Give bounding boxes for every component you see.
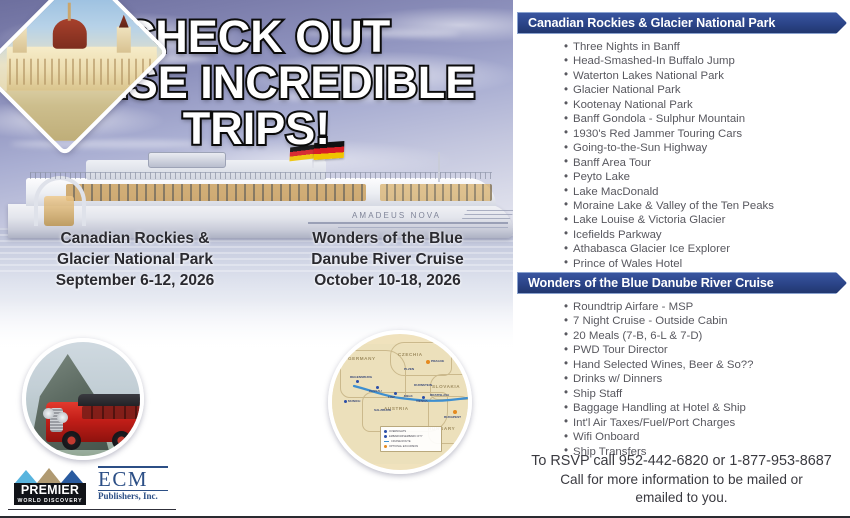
premier-world-discovery-logo: PREMIER WORLD DISCOVERY xyxy=(14,468,86,505)
map-city-melk: MELK xyxy=(404,394,413,398)
legend-swatch xyxy=(384,435,387,438)
legend-swatch xyxy=(384,441,389,442)
list-item: 20 Meals (7-B, 6-L & 7-D) xyxy=(513,329,850,343)
red-bus-roof xyxy=(78,394,144,406)
section-canadian-rockies: Canadian Rockies & Glacier National Park… xyxy=(513,12,850,271)
list-item: Glacier National Park xyxy=(513,83,850,97)
peak-icon xyxy=(61,470,83,483)
rsvp-phone-line[interactable]: To RSVP call 952-442-6820 or 1-877-953-8… xyxy=(513,452,850,471)
map-city-bratislava: BRATISLAVA xyxy=(430,393,449,397)
hero-photo-panel: AMADEUS NOVA CHECK OUT THESE INCREDIBLE … xyxy=(0,0,513,518)
map-city-dot xyxy=(356,380,359,383)
peak-icon xyxy=(15,470,37,483)
rsvp-info-line-1: Call for more information to be mailed o… xyxy=(513,471,850,489)
list-item: Int'l Air Taxes/Fuel/Port Charges xyxy=(513,416,850,430)
list-item: Roundtrip Airfare - MSP xyxy=(513,300,850,314)
parliament-dome xyxy=(53,19,87,49)
logo-divider xyxy=(8,509,176,511)
list-item: Three Nights in Banff xyxy=(513,40,850,54)
ship-window-row xyxy=(66,184,366,201)
trip-title-line-2: Danube River Cruise xyxy=(270,249,505,270)
ship-window-row xyxy=(380,184,492,201)
ecm-publishers-logo: ECM Publishers, Inc. xyxy=(98,466,176,502)
map-label-germany: GERMANY xyxy=(348,356,376,361)
map-city-dot xyxy=(426,360,430,364)
list-item: Peyto Lake xyxy=(513,170,850,184)
ecm-logo-word: ECM xyxy=(98,468,176,490)
ship-mast xyxy=(438,152,440,182)
list-item: Lake MacDonald xyxy=(513,185,850,199)
map-legend: OVERNIGHTS EMBARK/DISEMBARK CITY CRUISE … xyxy=(380,426,442,452)
red-jammer-bus-photo xyxy=(22,338,144,460)
parliament-tower xyxy=(117,27,131,53)
map-city-vienna: VIENNA xyxy=(416,399,428,403)
trip-dates: October 10-18, 2026 xyxy=(270,270,505,291)
list-item: Banff Area Tour xyxy=(513,156,850,170)
map-label-czechia: CZECHIA xyxy=(398,352,423,357)
headlight-icon xyxy=(57,412,68,423)
list-item: Icefields Parkway xyxy=(513,228,850,242)
legend-label: OPTIONAL EXCURSION xyxy=(389,444,418,449)
parliament-spire xyxy=(68,3,71,21)
trip-caption-rockies: Canadian Rockies & Glacier National Park… xyxy=(10,228,260,291)
section-header-label: Canadian Rockies & Glacier National Park xyxy=(518,16,775,30)
trip-title-line-2: Glacier National Park xyxy=(10,249,260,270)
section-header-danube: Wonders of the Blue Danube River Cruise xyxy=(517,272,847,294)
itinerary-panel: Canadian Rockies & Glacier National Park… xyxy=(513,0,850,518)
premier-logo-tagline: WORLD DISCOVERY xyxy=(14,497,86,505)
advertisement-flyer: AMADEUS NOVA CHECK OUT THESE INCREDIBLE … xyxy=(0,0,850,518)
list-item: Wifi Onboard xyxy=(513,430,850,444)
premier-logo-word: PREMIER xyxy=(14,483,86,497)
list-item: Head-Smashed-In Buffalo Jump xyxy=(513,54,850,68)
trip-title-line-1: Wonders of the Blue xyxy=(270,228,505,249)
trip-captions: Canadian Rockies & Glacier National Park… xyxy=(0,228,513,298)
legend-swatch xyxy=(384,445,387,448)
trip-dates: September 6-12, 2026 xyxy=(10,270,260,291)
trip-caption-danube: Wonders of the Blue Danube River Cruise … xyxy=(270,228,505,291)
map-city-salzburg: SALZBURG xyxy=(374,408,391,412)
ship-railing xyxy=(30,172,492,179)
map-city-prague: PRAGUE xyxy=(431,359,444,363)
list-item: Banff Gondola - Sulphur Mountain xyxy=(513,112,850,126)
list-item: Ship Staff xyxy=(513,387,850,401)
bus-wheel xyxy=(62,431,81,450)
list-item: Moraine Lake & Valley of the Ten Peaks xyxy=(513,199,850,213)
list-item: Athabasca Glacier Ice Explorer xyxy=(513,242,850,256)
ship-wheelhouse xyxy=(148,152,226,168)
list-item: Prince of Wales Hotel xyxy=(513,257,850,271)
section-danube-cruise: Wonders of the Blue Danube River Cruise … xyxy=(513,272,850,459)
peak-icon xyxy=(37,468,61,483)
red-bus-windows xyxy=(82,406,144,419)
ship-chevron-decal xyxy=(459,210,513,224)
bus-wheel xyxy=(112,431,131,450)
rsvp-block: To RSVP call 952-442-6820 or 1-877-953-8… xyxy=(513,452,850,507)
map-city-dot xyxy=(344,400,347,403)
logo-bar: PREMIER WORLD DISCOVERY ECM Publishers, … xyxy=(14,466,184,506)
parliament-columns xyxy=(9,59,155,85)
legend-row: OPTIONAL EXCURSION xyxy=(384,444,438,449)
list-item: 1930's Red Jammer Touring Cars xyxy=(513,127,850,141)
list-item: PWD Tour Director xyxy=(513,343,850,357)
section-header-label: Wonders of the Blue Danube River Cruise xyxy=(518,276,774,290)
list-item: Kootenay National Park xyxy=(513,98,850,112)
list-item: Waterton Lakes National Park xyxy=(513,69,850,83)
legend-swatch xyxy=(384,430,387,433)
map-city-passau: PASSAU xyxy=(369,389,382,393)
feature-list-danube: Roundtrip Airfare - MSP 7 Night Cruise -… xyxy=(513,300,850,459)
list-item: 7 Night Cruise - Outside Cabin xyxy=(513,314,850,328)
danube-route-map: GERMANY CZECHIA SLOVAKIA AUSTRIA HUNGARY… xyxy=(328,330,472,474)
ecm-logo-tagline: Publishers, Inc. xyxy=(98,491,176,502)
list-item: Going-to-the-Sun Highway xyxy=(513,141,850,155)
list-item: Baggage Handling at Hotel & Ship xyxy=(513,401,850,415)
map-city-munich: MUNICH xyxy=(348,399,360,403)
map-city-dot xyxy=(453,410,457,414)
mountain-peaks-icon xyxy=(14,468,86,483)
list-item: Drinks w/ Dinners xyxy=(513,372,850,386)
rsvp-info-line-2: emailed to you. xyxy=(513,489,850,507)
ship-name-label: AMADEUS NOVA xyxy=(352,211,441,220)
map-city-durnstein: DURNSTEIN xyxy=(414,383,432,387)
trip-title-line-1: Canadian Rockies & xyxy=(10,228,260,249)
list-item: Lake Louise & Victoria Glacier xyxy=(513,213,850,227)
map-city-linz: LINZ xyxy=(388,395,395,399)
ship-bow-lounge xyxy=(44,196,74,226)
section-header-rockies: Canadian Rockies & Glacier National Park xyxy=(517,12,847,34)
feature-list-rockies: Three Nights in Banff Head-Smashed-In Bu… xyxy=(513,40,850,271)
map-city-regensburg: REGENSBURG xyxy=(350,375,372,379)
list-item: Hand Selected Wines, Beer & So?? xyxy=(513,358,850,372)
headlight-icon xyxy=(43,408,54,419)
map-city-plzen: PLZEN xyxy=(404,367,414,371)
map-label-slovakia: SLOVAKIA xyxy=(432,384,460,389)
map-city-budapest: BUDAPEST xyxy=(444,415,461,419)
